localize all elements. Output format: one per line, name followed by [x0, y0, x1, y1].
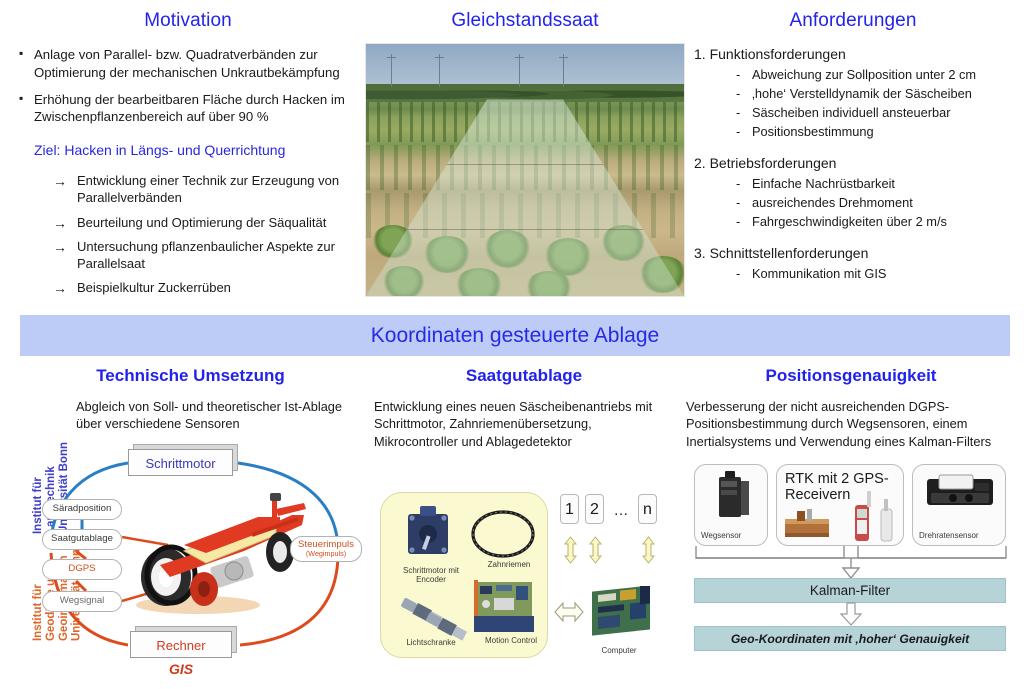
requirement-label: Schnittstellenforderungen: [710, 245, 869, 261]
requirement-items: Einfache Nachrüstbarkeit ausreichendes D…: [736, 176, 1018, 229]
list-item: Beurteilung und Optimierung der Säqualit…: [53, 214, 358, 231]
computer-board-icon: [588, 586, 656, 646]
list-item: Fahrgeschwindigkeiten über 2 m/s: [736, 214, 1018, 229]
channel-box: n: [638, 494, 657, 524]
gleichstandssaat-section: Gleichstandssaat: [362, 10, 688, 297]
pill-label: DGPS: [68, 564, 95, 574]
power-pylon-icon: [519, 54, 520, 87]
requirement-number: 3.: [694, 245, 706, 261]
pill-wegsignal: Wegsignal: [42, 591, 122, 612]
panel-saatgutablage: Saatgutablage Entwicklung eines neuen Sä…: [374, 366, 674, 675]
kalman-flow-diagram: Wegsensor RTK mit 2 GPS-Receivern: [686, 462, 1016, 657]
component-caption: Motion Control: [472, 636, 550, 645]
ellipsis-label: …: [608, 494, 634, 524]
gleichstandssaat-title: Gleichstandssaat: [362, 10, 688, 32]
list-item: Säscheiben individuell ansteuerbar: [736, 105, 1018, 120]
motivation-bullet-list: Anlage von Parallel- bzw. Quadratverbänd…: [18, 46, 358, 126]
wegsensor-photo-icon: [709, 471, 755, 523]
motivation-goal: Ziel: Hacken in Längs- und Querrichtung: [34, 142, 358, 158]
double-arrow-up-down-icon: [589, 536, 602, 564]
requirement-group: 3. Schnittstellenforderungen Kommunikati…: [688, 245, 1018, 281]
requirement-group: 2. Betriebsforderungen Einfache Nachrüst…: [688, 155, 1018, 229]
pill-saeradposition: Säradposition: [42, 499, 122, 520]
bottom-panels: Technische Umsetzung Abgleich von Soll- …: [0, 366, 1024, 689]
bar-label: Geo-Koordinaten mit ‚hoher‘ Genauigkeit: [731, 632, 969, 646]
power-pylon-icon: [439, 54, 440, 87]
requirement-number: 1.: [694, 46, 706, 62]
box-label: Schrittmotor: [145, 456, 215, 471]
stepper-motor-icon: [400, 506, 460, 564]
merge-bracket: [686, 544, 1016, 580]
trapezoid-divider: [367, 229, 684, 230]
field-photo: [365, 43, 685, 297]
list-item: Anlage von Parallel- bzw. Quadratverbänd…: [18, 46, 358, 82]
list-item: Positionsbestimmung: [736, 124, 1018, 139]
pill-sublabel: (Wegimpuls): [306, 550, 346, 558]
gyro-sensor-photo-icon: [923, 471, 997, 515]
channel-box: 2: [585, 494, 604, 524]
handheld-gps-icon: [849, 491, 875, 543]
component-caption: Computer: [574, 646, 664, 655]
list-item: ausreichendes Drehmoment: [736, 195, 1018, 210]
pill-label: Wegsignal: [60, 596, 105, 606]
requirement-heading: 1. Funktionsforderungen: [688, 46, 1018, 62]
panel-positionsgenauigkeit: Positionsgenauigkeit Verbesserung der ni…: [686, 366, 1016, 657]
motion-control-board-icon: [472, 578, 536, 636]
sensor-box-rtk: RTK mit 2 GPS-Receivern: [776, 464, 904, 546]
pill-label: Säradposition: [53, 504, 112, 514]
requirement-number: 2.: [694, 155, 706, 171]
list-item: Erhöhung der bearbeitbaren Fläche durch …: [18, 91, 358, 127]
motivation-arrow-list: Entwicklung einer Technik zur Erzeugung …: [53, 172, 358, 296]
double-arrow-left-right-icon: [554, 596, 584, 628]
requirement-heading: 3. Schnittstellenforderungen: [688, 245, 1018, 261]
requirement-group: 1. Funktionsforderungen Abweichung zur S…: [688, 46, 1018, 139]
component-caption: Zahnriemen: [470, 560, 548, 569]
component-caption: Schrittmotor mit Encoder: [392, 566, 470, 584]
panel-description: Abgleich von Soll- und theoretischer Ist…: [18, 398, 363, 433]
motivation-title: Motivation: [18, 10, 358, 32]
panel-description: Verbesserung der nicht ausreichenden DGP…: [686, 398, 1016, 450]
list-item: Kommunikation mit GIS: [736, 266, 1018, 281]
bar-label: Kalman-Filter: [810, 583, 890, 598]
requirement-label: Betriebsforderungen: [710, 155, 837, 171]
anforderungen-title: Anforderungen: [688, 10, 1018, 32]
component-caption: Lichtschranke: [392, 638, 470, 647]
panel-technische-umsetzung: Technische Umsetzung Abgleich von Soll- …: [18, 366, 363, 676]
list-item: Entwicklung einer Technik zur Erzeugung …: [53, 172, 358, 206]
poster-root: Motivation Anlage von Parallel- bzw. Qua…: [0, 0, 1024, 689]
channel-number-row: 1 2 … n: [560, 494, 672, 528]
panel-title: Technische Umsetzung: [18, 366, 363, 386]
power-pylon-icon: [391, 54, 392, 87]
requirement-items: Kommunikation mit GIS: [736, 266, 1018, 281]
list-item: Untersuchung pflanzenbaulicher Aspekte z…: [53, 238, 358, 272]
power-pylon-icon: [563, 54, 564, 87]
box-schrittmotor: Schrittmotor: [128, 449, 233, 476]
motivation-section: Motivation Anlage von Parallel- bzw. Qua…: [18, 10, 358, 303]
box-label: Rechner: [156, 638, 205, 653]
seed-drill-illustration: [126, 479, 311, 634]
toothed-belt-icon: [470, 508, 536, 560]
saatgut-diagram: Schrittmotor mit Encoder Zahnriemen: [374, 450, 674, 675]
gps-antenna-icon: [873, 499, 899, 543]
gis-label: GIS: [130, 661, 232, 677]
double-arrow-up-down-icon: [642, 536, 655, 564]
pill-saatgutablage: Saatgutablage: [42, 529, 122, 550]
banner-title: Koordinaten gesteuerte Ablage: [371, 324, 659, 348]
control-loop-diagram: Institut für Landtechnik Universität Bon…: [18, 441, 363, 676]
pill-dgps: DGPS: [42, 559, 122, 580]
requirement-heading: 2. Betriebsforderungen: [688, 155, 1018, 171]
arrow-down-icon: [838, 602, 864, 626]
pill-steuerimpuls: Steuerimpuls (Wegimpuls): [290, 536, 362, 562]
anforderungen-section: Anforderungen 1. Funktionsforderungen Ab…: [688, 10, 1018, 294]
sensor-caption: Drehratensensor: [919, 531, 1001, 541]
kalman-filter-bar: Kalman-Filter: [694, 578, 1006, 603]
list-item: Beispielkultur Zuckerrüben: [53, 279, 358, 296]
panel-title: Saatgutablage: [374, 366, 674, 386]
section-banner: Koordinaten gesteuerte Ablage: [20, 315, 1010, 356]
panel-description: Entwicklung eines neuen Säscheibenantrie…: [374, 398, 674, 450]
requirement-label: Funktionsforderungen: [710, 46, 846, 62]
treeline: [366, 84, 684, 102]
sensor-caption: Wegsensor: [701, 531, 763, 541]
result-bar: Geo-Koordinaten mit ‚hoher‘ Genauigkeit: [694, 626, 1006, 651]
box-rechner: Rechner: [130, 631, 232, 658]
light-barrier-icon: [396, 594, 476, 642]
double-arrow-up-down-icon: [564, 536, 577, 564]
list-item: Abweichung zur Sollposition unter 2 cm: [736, 67, 1018, 82]
list-item: ‚hohe‘ Verstelldynamik der Säscheiben: [736, 86, 1018, 101]
requirement-items: Abweichung zur Sollposition unter 2 cm ‚…: [736, 67, 1018, 139]
panel-title: Positionsgenauigkeit: [686, 366, 1016, 386]
sensor-box-wegsensor: Wegsensor: [694, 464, 768, 546]
pill-label: Saatgutablage: [51, 534, 113, 544]
gps-receiver-photo-icon: [783, 507, 845, 541]
list-item: Einfache Nachrüstbarkeit: [736, 176, 1018, 191]
channel-box: 1: [560, 494, 579, 524]
sensor-box-drehratensensor: Drehratensensor: [912, 464, 1006, 546]
